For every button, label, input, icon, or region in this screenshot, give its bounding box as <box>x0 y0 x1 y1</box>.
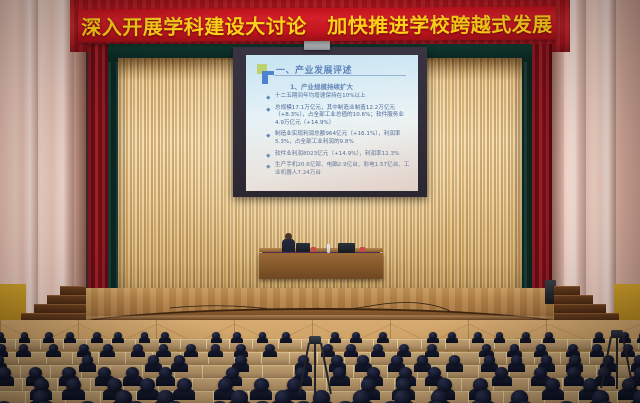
seat-divider <box>50 365 51 378</box>
presenter-table <box>259 253 383 279</box>
audience-person <box>496 332 504 339</box>
audience-person <box>49 344 59 353</box>
seat-divider <box>252 339 253 349</box>
audience-person <box>66 378 81 391</box>
seat-divider <box>262 365 263 378</box>
audience-person <box>159 367 172 379</box>
audience-person <box>399 344 409 353</box>
auditorium-photo: 一、产业发展评述 1、产业规模持续扩大 十二五期间年均增速保持在10%以上 总规… <box>0 0 640 403</box>
audience-person <box>174 355 185 365</box>
audience-person <box>235 355 246 365</box>
audience-person <box>568 344 578 353</box>
audience-person <box>115 390 132 403</box>
curtain-side-red-left <box>88 44 108 306</box>
audience-person <box>259 332 267 339</box>
audience-person <box>226 367 239 379</box>
audience-person <box>231 390 248 403</box>
seat-divider <box>100 391 101 403</box>
laptop-icon <box>296 243 310 252</box>
audience-person <box>399 367 412 379</box>
audience-person <box>567 367 580 379</box>
seat-divider <box>125 352 126 364</box>
audience-person <box>218 378 233 391</box>
camera-tripod-right <box>604 330 626 390</box>
audience-person <box>333 367 346 379</box>
seat-divider <box>15 339 16 349</box>
projection-screen: 一、产业发展评述 1、产业规模持续扩大 十二五期间年均增速保持在10%以上 总规… <box>246 55 418 191</box>
audience-person <box>545 332 553 339</box>
audience-person <box>265 344 275 353</box>
audience-person <box>534 367 547 379</box>
audience-person <box>448 332 456 339</box>
cup-icon <box>360 247 365 252</box>
seat-divider <box>421 339 422 349</box>
seat-divider <box>98 352 99 364</box>
audience-person <box>21 332 29 339</box>
audience-person <box>140 378 155 391</box>
seat-divider <box>142 365 143 378</box>
banner-text: 深入开展学科建设大讨论 加快推进学校跨越式发展 <box>81 9 553 41</box>
audience-person <box>275 390 292 403</box>
seat-divider <box>202 365 203 378</box>
audience-person <box>583 378 598 391</box>
audience-person <box>148 355 159 365</box>
audience-person <box>82 355 93 365</box>
seat-divider <box>469 339 470 349</box>
audience-person <box>98 367 111 379</box>
seat-divider <box>478 365 479 378</box>
audience-person <box>394 390 411 403</box>
audience-person <box>417 355 428 365</box>
audience-person <box>634 367 640 379</box>
audience-person <box>66 332 74 339</box>
pilaster-right-outer <box>600 0 616 330</box>
presenter-body <box>282 239 295 252</box>
audience-person <box>107 378 122 391</box>
camera-tripod-center <box>302 336 328 398</box>
seat-divider <box>25 391 26 403</box>
audience-person <box>634 355 640 365</box>
audience-person <box>212 332 220 339</box>
audience-person <box>0 332 4 339</box>
audience-person <box>159 344 169 353</box>
audience-person <box>211 344 221 353</box>
audience-person <box>357 355 368 365</box>
seat-divider <box>397 339 398 349</box>
audience-person <box>0 367 11 379</box>
audience-person <box>126 367 139 379</box>
audience-person <box>536 344 546 353</box>
audience-person <box>236 344 246 353</box>
slogan-banner: 深入开展学科建设大讨论 加快推进学校跨越式发展 <box>78 7 556 43</box>
audience-person <box>353 390 370 403</box>
audience-person <box>569 355 580 365</box>
audience-person <box>427 344 437 353</box>
audience-person <box>484 355 495 365</box>
audience-person <box>19 344 29 353</box>
audience-person <box>177 378 192 391</box>
audience-person <box>482 344 492 353</box>
laptop-icon <box>338 243 355 253</box>
water-bottle-icon <box>327 244 330 253</box>
audience-person <box>428 367 441 379</box>
audience-person <box>373 344 383 353</box>
audience-person <box>346 344 356 353</box>
audience-person <box>495 367 508 379</box>
audience-person <box>93 332 101 339</box>
curtain-side-red-right <box>532 44 552 306</box>
audience-person <box>352 332 360 339</box>
audience-person <box>367 367 380 379</box>
audience-person <box>633 390 640 403</box>
cup-icon <box>311 247 316 252</box>
audience-person <box>233 332 241 339</box>
audience-person <box>391 355 402 365</box>
audience-person <box>0 344 6 353</box>
audience-person <box>186 344 196 353</box>
seat-divider <box>72 352 73 364</box>
audience-person <box>282 332 290 339</box>
audience-person <box>29 367 42 379</box>
audience-person <box>254 378 269 391</box>
tripod-leg <box>314 343 316 395</box>
audience-person <box>474 332 482 339</box>
audience-person <box>62 367 75 379</box>
seat-divider <box>206 339 207 349</box>
projector-icon <box>304 40 330 50</box>
audience-person <box>595 332 603 339</box>
audience-person <box>331 355 342 365</box>
audience-person <box>161 332 169 339</box>
seat-divider <box>40 339 41 349</box>
seat-divider <box>229 339 230 349</box>
seat-divider <box>289 352 290 364</box>
audience-person <box>541 355 552 365</box>
audience-person <box>379 332 387 339</box>
tripod-leg <box>616 337 618 389</box>
audience-person <box>133 344 143 353</box>
screen-light-wash <box>246 55 418 191</box>
seat-divider <box>20 365 21 378</box>
audience-person <box>103 344 113 353</box>
audience-person <box>45 332 53 339</box>
audience-person <box>331 332 339 339</box>
audience-person <box>141 332 149 339</box>
pilaster-left-outer <box>22 0 38 330</box>
seat-divider <box>560 352 561 364</box>
audience-person <box>511 355 522 365</box>
audience-person <box>510 344 520 353</box>
audience-person <box>429 332 437 339</box>
seat-divider <box>180 339 181 349</box>
seat-divider <box>261 352 262 364</box>
presenter-person <box>282 233 295 252</box>
audience-person <box>449 355 460 365</box>
seat-divider <box>278 339 279 349</box>
audience-person <box>522 332 530 339</box>
audience-person <box>592 344 602 353</box>
seat-divider <box>503 391 504 403</box>
audience-person <box>114 332 122 339</box>
audience-person <box>79 344 89 353</box>
